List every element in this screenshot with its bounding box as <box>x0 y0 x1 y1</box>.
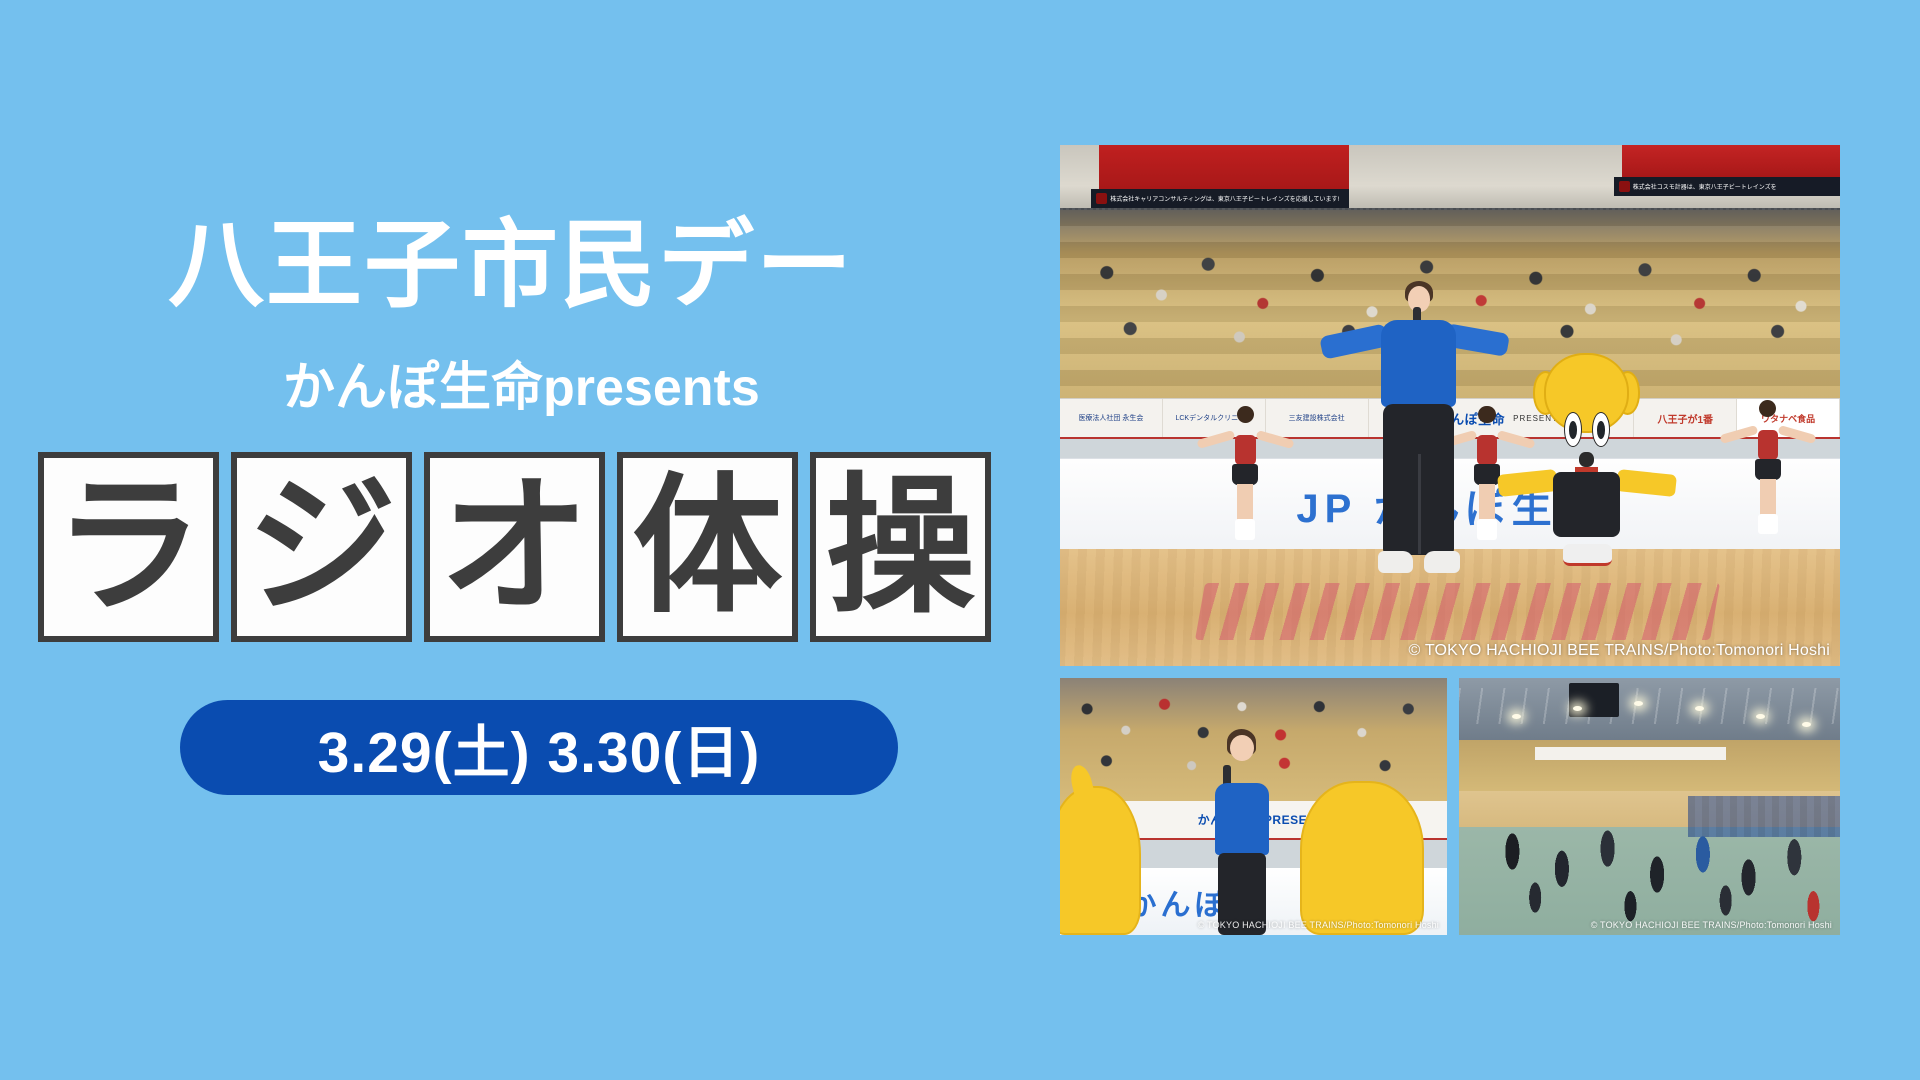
title-tile-5: 操 <box>810 452 991 642</box>
date-badge: 3.29(土) 3.30(日) <box>180 700 898 795</box>
mascot-right <box>1300 781 1424 935</box>
title-tile-1: ラ <box>38 452 219 642</box>
title-tile-3: オ <box>424 452 605 642</box>
ceiling-light-icon <box>1802 722 1811 727</box>
sponsor-banner-right-text: 株式会社コスモ計器は、東京八王子ビートレインズを <box>1633 182 1777 191</box>
red-banner-right <box>1622 145 1840 177</box>
photo-credit: © TOKYO HACHIOJI BEE TRAINS/Photo:Tomono… <box>1198 920 1439 930</box>
poster-canvas: 八王子市民デー かんぽ生命presents ラ ジ オ 体 操 3.29(土) … <box>0 0 1920 1080</box>
scoreboard <box>1569 683 1619 716</box>
photo-bottom-right: © TOKYO HACHIOJI BEE TRAINS/Photo:Tomono… <box>1459 678 1840 935</box>
cheer-dancer <box>1746 400 1789 535</box>
photo-bottom-left: かんぽ生命 PRESENTS JP かんぽ © TOKYO HACHIOJI B… <box>1060 678 1447 935</box>
title-tile-4: 体 <box>617 452 798 642</box>
cheer-dancer <box>1224 406 1267 541</box>
wall-banner <box>1535 747 1726 760</box>
sponsor-eiseikai: 医療法人社団 永生会 <box>1060 399 1163 438</box>
photo-credit: © TOKYO HACHIOJI BEE TRAINS/Photo:Tomono… <box>1408 642 1830 660</box>
banner-logo-icon <box>1096 193 1107 204</box>
sponsor-banner-left: 株式会社キャリアコンサルティングは、東京八王子ビートレインズを応援しています! <box>1091 189 1348 208</box>
instructor-figure <box>1325 286 1512 609</box>
red-banner-left <box>1099 145 1349 189</box>
page-subtitle: かんぽ生命presents <box>283 362 760 414</box>
title-tile-2: ジ <box>231 452 412 642</box>
title-tiles-row: ラ ジ オ 体 操 <box>38 452 991 642</box>
mascot-left <box>1060 786 1141 935</box>
photo-collage: 株式会社キャリアコンサルティングは、東京八王子ビートレインズを応援しています! … <box>1060 145 1840 935</box>
sponsor-banner-left-text: 株式会社キャリアコンサルティングは、東京八王子ビートレインズを応援しています! <box>1110 194 1339 203</box>
photo-credit: © TOKYO HACHIOJI BEE TRAINS/Photo:Tomono… <box>1591 920 1832 930</box>
sponsor-banner-right: 株式会社コスモ計器は、東京八王子ビートレインズを <box>1614 177 1840 196</box>
participants-crowd <box>1459 791 1840 935</box>
instructor-figure <box>1199 735 1284 935</box>
page-title: 八王子市民デー <box>168 218 854 314</box>
banner-logo-icon <box>1619 181 1630 192</box>
team-mascot <box>1528 353 1645 572</box>
left-text-panel: 八王子市民デー かんぽ生命presents ラ ジ オ 体 操 3.29(土) … <box>0 0 1040 1080</box>
photo-main: 株式会社キャリアコンサルティングは、東京八王子ビートレインズを応援しています! … <box>1060 145 1840 666</box>
sponsor-hachioji: 八王子が1番 <box>1634 399 1737 438</box>
